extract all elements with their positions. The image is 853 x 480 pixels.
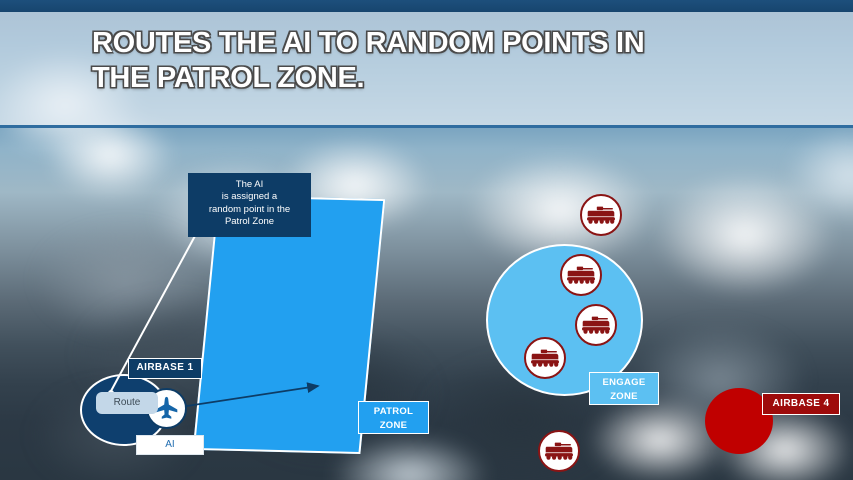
route-label[interactable]: Route (96, 392, 158, 414)
tank-marker-engage-lower[interactable] (524, 337, 566, 379)
patrol-zone-label[interactable]: PATROL ZONE (358, 401, 429, 434)
tank-icon (587, 205, 615, 225)
airbase-1-label[interactable]: AIRBASE 1 (128, 358, 202, 379)
tank-icon (545, 441, 573, 461)
tank-icon (582, 315, 610, 335)
slide-canvas: ROUTES THE AI TO RANDOM POINTS IN THE PA… (0, 0, 853, 480)
tank-icon (531, 348, 559, 368)
tank-marker-south[interactable] (538, 430, 580, 472)
tank-icon (567, 265, 595, 285)
airbase-4-label[interactable]: AIRBASE 4 (762, 393, 840, 415)
tank-marker-engage-right[interactable] (575, 304, 617, 346)
page-title: ROUTES THE AI TO RANDOM POINTS IN THE PA… (92, 26, 792, 96)
ai-label[interactable]: AI (136, 435, 204, 455)
tank-marker-engage-upper[interactable] (560, 254, 602, 296)
top-accent-bar (0, 0, 853, 12)
callout-box: The AI is assigned a random point in the… (188, 173, 311, 237)
engage-zone-label[interactable]: ENGAGE ZONE (589, 372, 659, 405)
tank-marker-north[interactable] (580, 194, 622, 236)
